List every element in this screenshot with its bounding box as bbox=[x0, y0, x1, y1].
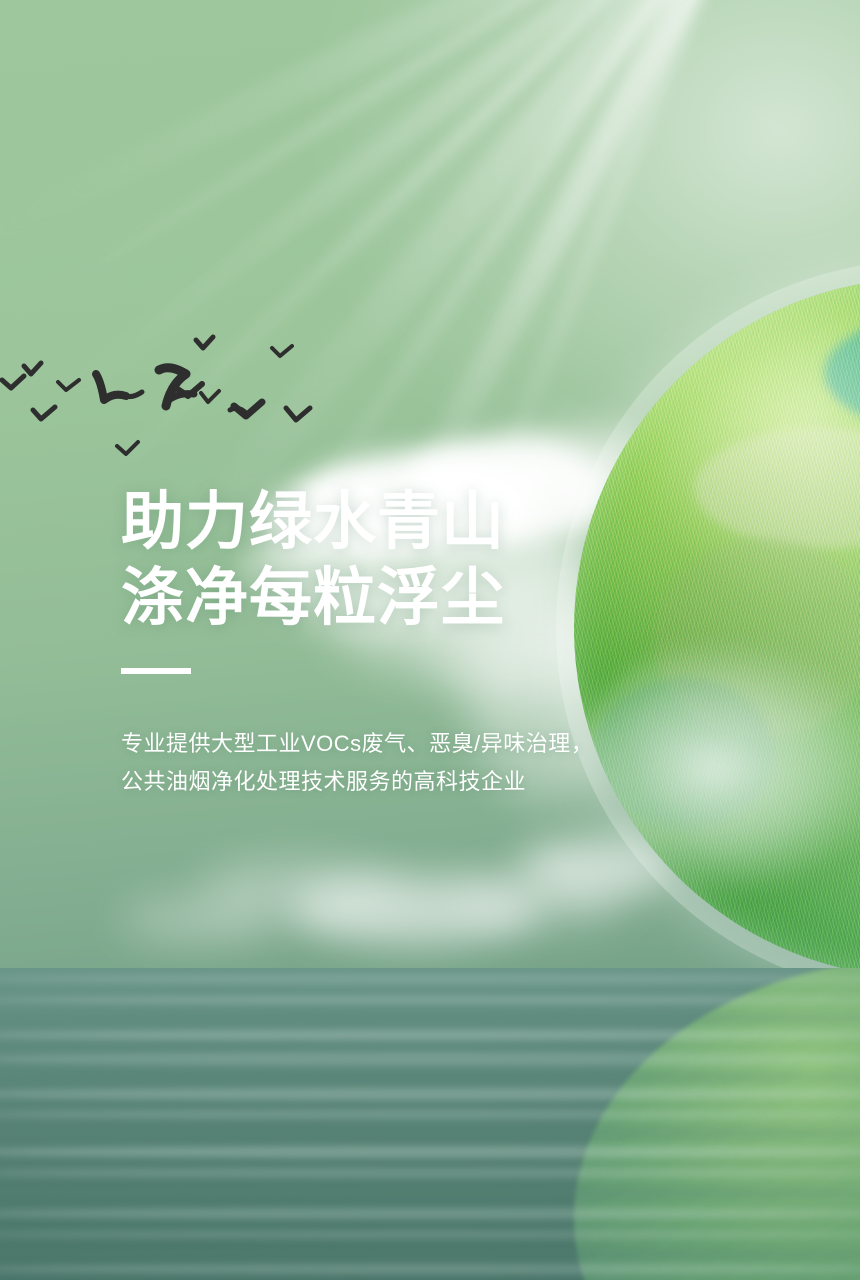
title-divider bbox=[121, 668, 191, 674]
water-ripple bbox=[0, 1208, 860, 1219]
rippled-water-surface bbox=[0, 968, 860, 1280]
cloud-low-4 bbox=[120, 900, 280, 940]
flying-birds-flock bbox=[0, 330, 470, 470]
subtext-line-2: 公共油烟净化处理技术服务的高科技企业 bbox=[121, 763, 681, 801]
poster-text-block: 助力绿水青山 涤净每粒浮尘 专业提供大型工业VOCs废气、恶臭/异味治理， 公共… bbox=[121, 484, 681, 801]
water-ripple bbox=[0, 1052, 860, 1066]
page-title: 助力绿水青山 涤净每粒浮尘 bbox=[121, 484, 681, 636]
water-ripple bbox=[0, 1030, 860, 1040]
water-ripple bbox=[0, 1248, 860, 1260]
water-ripple bbox=[0, 1168, 860, 1178]
water-ripple bbox=[0, 1126, 860, 1140]
water-ripple bbox=[0, 1088, 860, 1100]
subtext-line-1: 专业提供大型工业VOCs废气、恶臭/异味治理， bbox=[121, 725, 681, 763]
poster-subtext: 专业提供大型工业VOCs废气、恶臭/异味治理， 公共油烟净化处理技术服务的高科技… bbox=[121, 725, 681, 801]
headline-line-1: 助力绿水青山 bbox=[121, 484, 681, 560]
water-ripple bbox=[0, 1012, 860, 1024]
water-ripple bbox=[0, 996, 860, 1004]
eco-promo-poster: 助力绿水青山 涤净每粒浮尘 专业提供大型工业VOCs废气、恶臭/异味治理， 公共… bbox=[0, 0, 860, 1280]
water-ripple bbox=[0, 1230, 860, 1239]
water-ripple bbox=[0, 1186, 860, 1200]
water-ripple bbox=[0, 1072, 860, 1082]
headline-line-2: 涤净每粒浮尘 bbox=[121, 560, 681, 636]
water-ripple bbox=[0, 974, 860, 984]
water-ripple bbox=[0, 1264, 860, 1274]
water-ripple bbox=[0, 1146, 860, 1158]
water-ripple bbox=[0, 1110, 860, 1119]
